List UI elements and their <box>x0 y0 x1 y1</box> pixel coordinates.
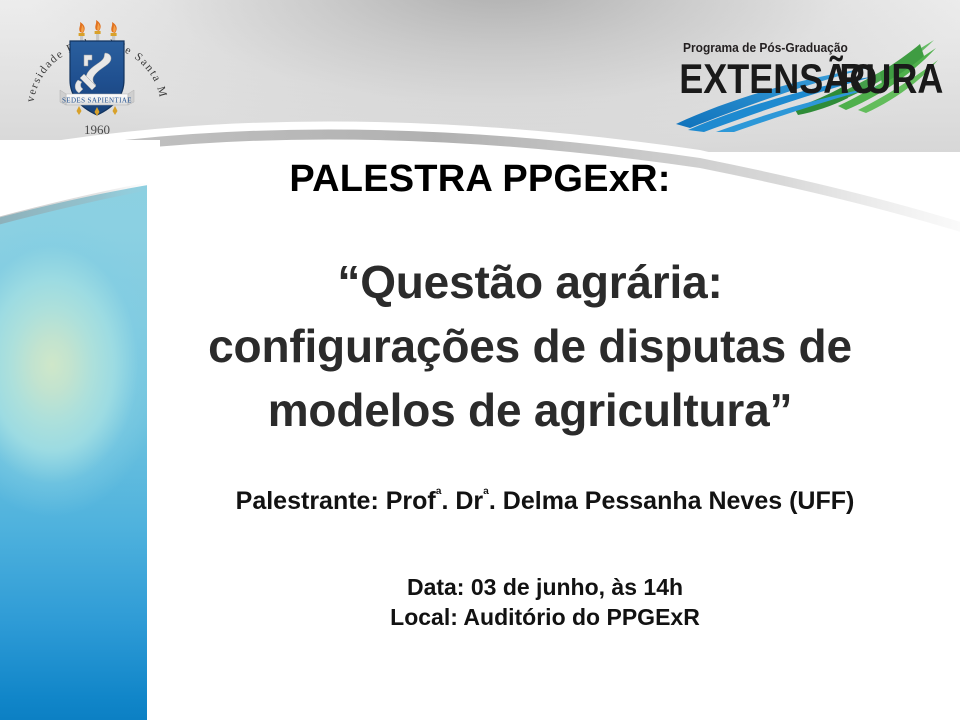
speaker-prefix: Palestrante: Prof <box>236 487 436 515</box>
speaker-mid: . Dr <box>441 487 483 515</box>
event-details: Data: 03 de junho, às 14h Local: Auditór… <box>150 572 940 632</box>
ufsm-crest-logo: Universidade Federal de Santa Maria <box>22 8 172 148</box>
slide-title: “Questão agrária: configurações de dispu… <box>150 250 910 442</box>
event-location: Local: Auditório do PPGExR <box>150 602 940 632</box>
slide-kicker: PALESTRA PPGExR: <box>0 158 960 201</box>
motto-text: SEDES SAPIENTIAE <box>62 97 132 105</box>
presentation-slide: Universidade Federal de Santa Maria <box>0 0 960 720</box>
title-line-2: configurações de disputas de <box>150 314 910 378</box>
program-line: Programa de Pós-Graduação <box>683 41 848 56</box>
title-line-1: “Questão agrária: <box>150 250 910 314</box>
speaker-suffix: . Delma Pessanha Neves (UFF) <box>489 487 854 515</box>
title-line-3: modelos de agricultura” <box>150 378 910 442</box>
left-accent-panel <box>0 150 147 720</box>
founding-year: 1960 <box>84 122 110 137</box>
fleur-ornament-icon <box>77 106 118 116</box>
speaker-line: Palestrante: Profª. Drª. Delma Pessanha … <box>150 487 940 516</box>
event-date: Data: 03 de junho, às 14h <box>150 572 940 602</box>
extensao-rural-logo: Programa de Pós-Graduação EXTENSÃO RURAL <box>672 28 944 132</box>
logo-word-rural: RURAL <box>839 57 944 103</box>
